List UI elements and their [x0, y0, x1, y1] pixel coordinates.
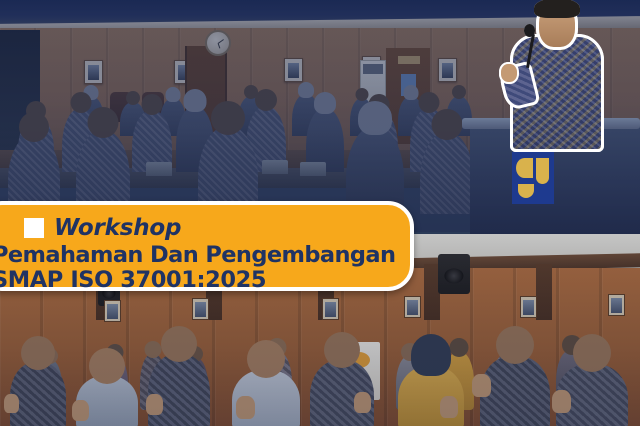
wall-portrait [322, 298, 339, 320]
wall-portrait [608, 294, 625, 316]
title-line-3: SMAP ISO 37001:2025 [0, 268, 400, 293]
participant [556, 364, 628, 426]
pu-logo-shape-p [516, 158, 533, 178]
wall-portrait [520, 296, 537, 318]
laptop [262, 160, 288, 174]
speaker-cutout [496, 0, 616, 158]
participant [310, 360, 374, 426]
wall-portrait [84, 60, 103, 84]
wall-portrait [104, 300, 121, 322]
participant [232, 370, 300, 426]
title-banner-content: Workshop Pemahaman Dan Pengembangan SMAP… [24, 213, 400, 281]
pu-logo-shape-arc [518, 184, 534, 198]
participant [76, 376, 138, 426]
speaker-hand [499, 62, 519, 84]
laptop [146, 162, 172, 176]
title-line-2: Pemahaman Dan Pengembangan [0, 243, 400, 268]
wall-portrait [192, 298, 209, 320]
title-banner: Workshop Pemahaman Dan Pengembangan SMAP… [0, 201, 414, 291]
door-sign [398, 56, 420, 64]
laptop [300, 162, 326, 176]
pu-logo-shape-u [536, 158, 549, 184]
speaker-hair [534, 0, 580, 18]
participant [480, 356, 550, 426]
participant [398, 366, 464, 426]
poster-canvas: Workshop Pemahaman Dan Pengembangan SMAP… [0, 0, 640, 426]
pu-logo [512, 152, 554, 204]
wall-portrait [284, 58, 303, 82]
title-workshop: Workshop [54, 217, 181, 240]
participant [10, 362, 66, 426]
wall-portrait [438, 58, 457, 82]
square-bullet-icon [24, 218, 44, 238]
participant [148, 354, 210, 426]
loudspeaker-icon [438, 254, 470, 294]
title-line-1-row: Workshop [24, 213, 400, 243]
wall-pillar [536, 264, 552, 320]
wall-portrait [404, 296, 421, 318]
wall-clock-icon [205, 30, 231, 56]
